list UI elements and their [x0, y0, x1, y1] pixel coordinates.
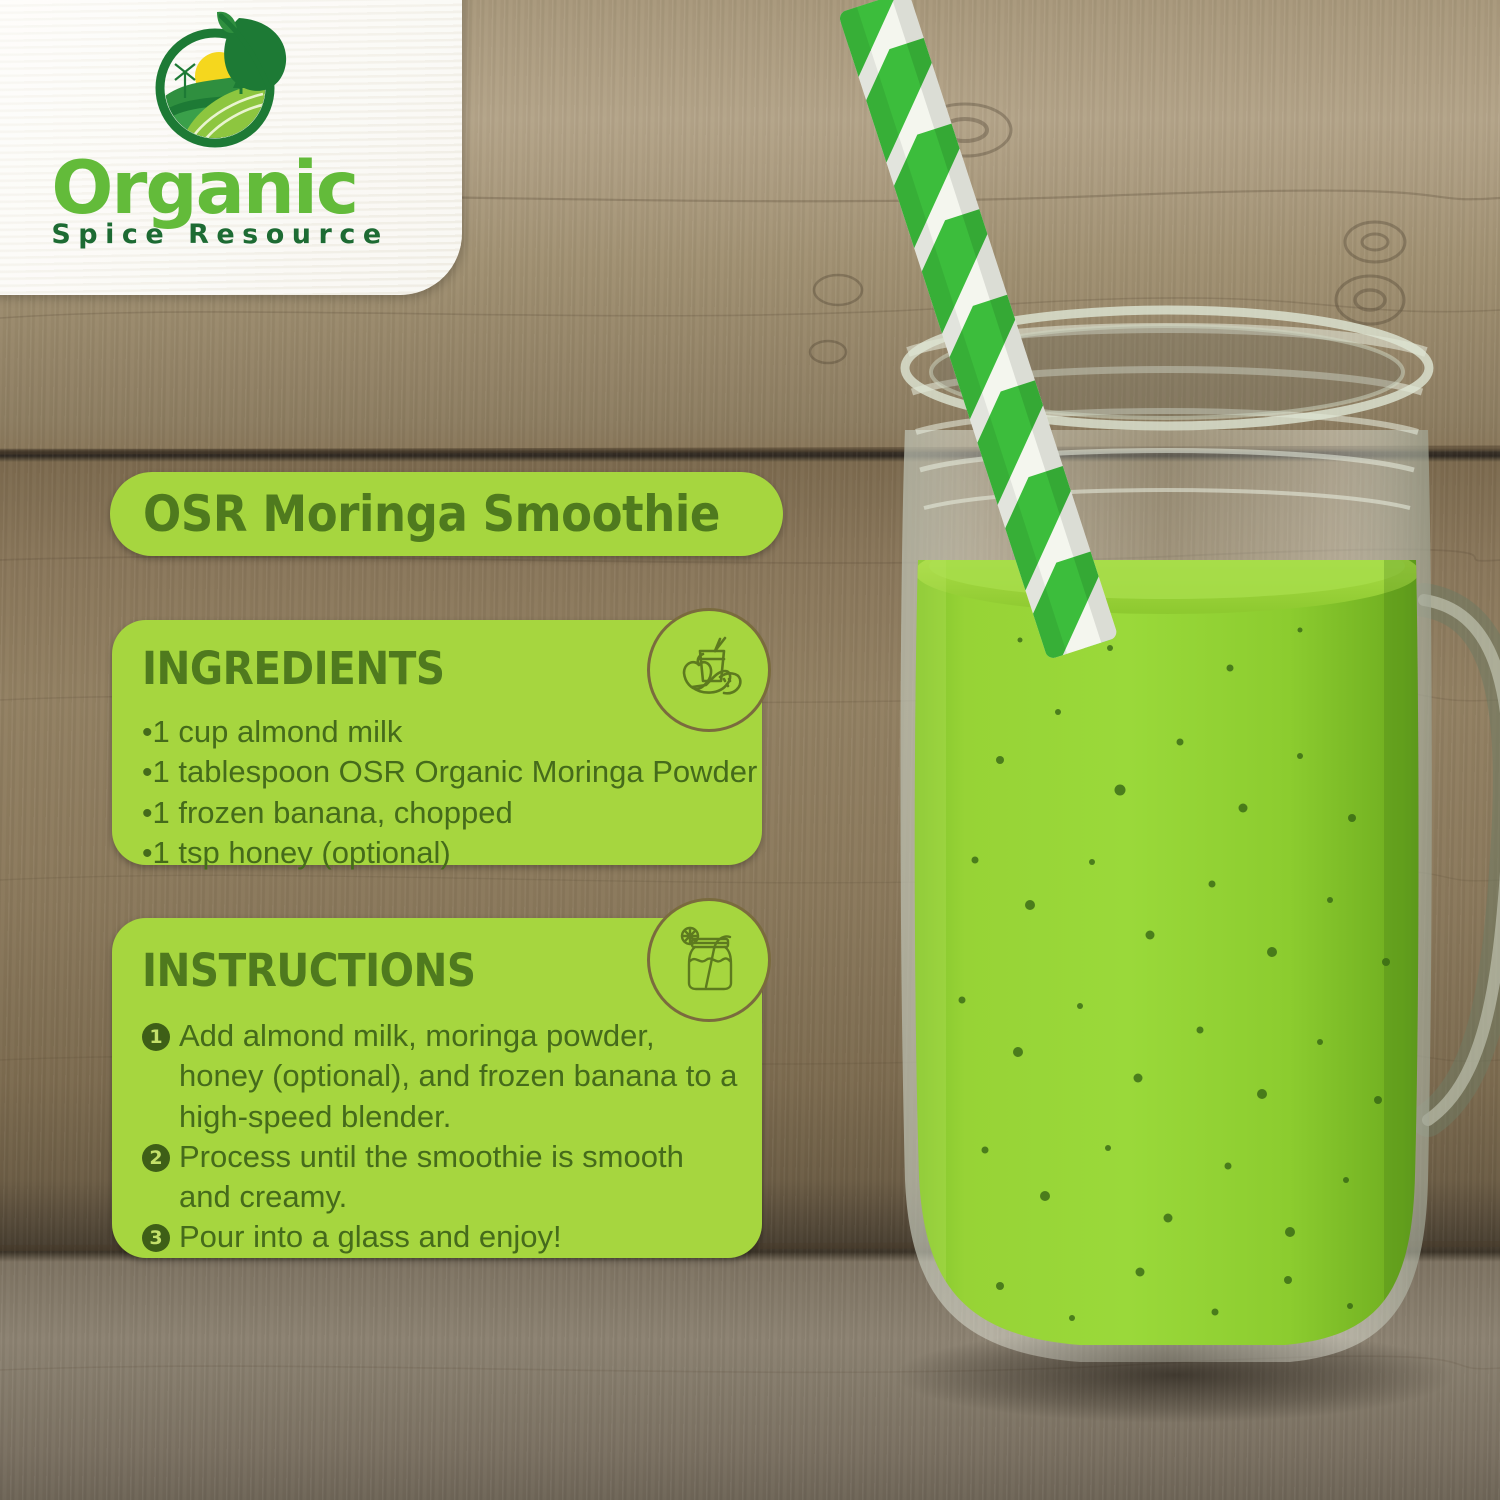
instruction-step: 1Add almond milk, moringa powder, honey …: [142, 1016, 744, 1137]
step-text: Process until the smoothie is smooth and…: [179, 1137, 744, 1218]
step-number-badge: 1: [142, 1023, 170, 1051]
ingredient-text: 1 tsp honey (optional): [153, 835, 451, 870]
instructions-list: 1Add almond milk, moringa powder, honey …: [142, 1016, 744, 1258]
fruit-juice-glass-icon: [647, 608, 771, 732]
mason-jar-drink-icon: [647, 898, 771, 1022]
ingredient-item: •1 tsp honey (optional): [142, 833, 744, 873]
step-text: Add almond milk, moringa powder, honey (…: [179, 1016, 744, 1137]
step-number-badge: 2: [142, 1144, 170, 1172]
brand-logo-card: Organic Spice Resource: [0, 0, 462, 295]
brand-tagline: Spice Resource: [51, 219, 388, 250]
instruction-step: 2Process until the smoothie is smooth an…: [142, 1137, 744, 1218]
ingredient-text: 1 frozen banana, chopped: [153, 795, 513, 830]
brand-name: Organic: [51, 154, 388, 223]
recipe-title-banner: OSR Moringa Smoothie: [110, 472, 783, 556]
ingredients-heading: INGREDIENTS: [142, 642, 445, 695]
ingredient-item: •1 cup almond milk: [142, 712, 744, 752]
instructions-heading: INSTRUCTIONS: [142, 944, 476, 997]
bullet-icon: •: [142, 837, 153, 870]
bullet-icon: •: [142, 797, 153, 830]
ingredient-item: •1 frozen banana, chopped: [142, 793, 744, 833]
ingredient-text: 1 tablespoon OSR Organic Moringa Powder: [153, 754, 758, 789]
farm-circle-leaf-logo-icon: [145, 6, 295, 156]
instruction-step: 3Pour into a glass and enjoy!: [142, 1217, 744, 1257]
step-number-badge: 3: [142, 1224, 170, 1252]
ingredients-list: •1 cup almond milk•1 tablespoon OSR Orga…: [142, 712, 744, 874]
bullet-icon: •: [142, 716, 153, 749]
ingredient-item: •1 tablespoon OSR Organic Moringa Powder: [142, 752, 744, 792]
ingredient-text: 1 cup almond milk: [153, 714, 403, 749]
bullet-icon: •: [142, 756, 153, 789]
page-title: OSR Moringa Smoothie: [143, 485, 720, 543]
step-text: Pour into a glass and enjoy!: [179, 1217, 744, 1257]
